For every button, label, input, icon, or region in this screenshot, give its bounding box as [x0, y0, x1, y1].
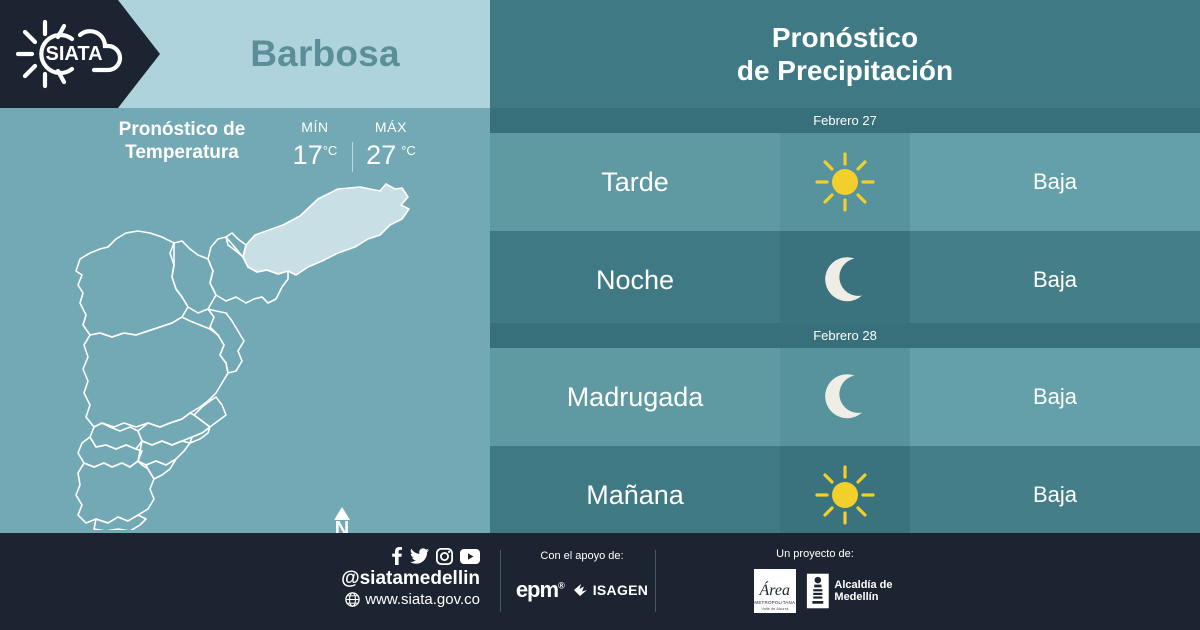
website-line[interactable]: www.siata.gov.co: [300, 590, 480, 609]
temperature-title-line2: Temperatura: [96, 141, 268, 164]
temperature-max: MÁX 27°C: [354, 118, 428, 170]
footer-divider: [655, 550, 656, 612]
temperature-max-value-wrap: 27°C: [354, 136, 428, 170]
forecast-probability: Baja: [910, 133, 1200, 231]
temperature-min-label: MÍN: [278, 118, 352, 136]
alcaldia-logo: Alcaldía de Medellín: [806, 571, 930, 611]
temperature-min-value: 17: [293, 140, 323, 170]
date-band-feb28: Febrero 28: [490, 323, 1200, 348]
siata-logo-text: SIATA: [45, 43, 102, 65]
forecast-row[interactable]: Mañana Baja: [490, 446, 1200, 544]
forecast-period-label: Madrugada: [490, 348, 780, 446]
social-handle[interactable]: @siatamedellin: [300, 567, 480, 590]
temperature-max-value: 27: [366, 140, 396, 170]
project-block: Un proyecto de: Área METROPOLITANA Valle…: [700, 547, 930, 613]
footer: @siatamedellin www.siata.gov.co Con el a…: [0, 533, 1200, 630]
support-logos: epm® ISAGEN: [512, 577, 652, 603]
alcaldia-crest-icon: [806, 571, 830, 611]
map-svg: [50, 175, 450, 530]
alcaldia-text: Alcaldía de Medellín: [834, 579, 930, 603]
sun-icon: [780, 446, 910, 544]
precipitation-panel: Pronóstico de Precipitación Febrero 27 T…: [490, 0, 1200, 533]
instagram-icon[interactable]: [436, 548, 453, 565]
forecast-probability: Baja: [910, 231, 1200, 329]
precipitation-title-line2: de Precipitación: [737, 54, 953, 87]
sun-cloud-icon: SIATA: [14, 18, 134, 95]
moon-icon: [780, 231, 910, 329]
date-band-feb27: Febrero 27: [490, 108, 1200, 133]
temperature-title: Pronóstico de Temperatura: [96, 118, 268, 164]
support-caption: Con el apoyo de:: [512, 549, 652, 563]
forecast-probability: Baja: [910, 446, 1200, 544]
temperature-max-unit: °C: [401, 143, 416, 158]
precipitation-title: Pronóstico de Precipitación: [490, 0, 1200, 108]
area-metropolitana-logo: Área METROPOLITANA Valle de Aburrá: [754, 569, 796, 613]
project-logos: Área METROPOLITANA Valle de Aburrá: [700, 569, 930, 613]
area-script-text: Área: [760, 583, 791, 599]
forecast-row[interactable]: Madrugada Baja: [490, 348, 1200, 446]
sun-icon: [780, 133, 910, 231]
twitter-icon[interactable]: [410, 548, 429, 564]
facebook-icon[interactable]: [390, 547, 403, 565]
project-caption: Un proyecto de:: [700, 547, 930, 561]
infographic-root: SIATA Barbosa Pronóstico de Temperatura …: [0, 0, 1200, 630]
moon-icon: [780, 348, 910, 446]
city-title: Barbosa: [160, 0, 490, 108]
forecast-period-label: Noche: [490, 231, 780, 329]
social-icons: [300, 546, 480, 566]
forecast-row[interactable]: Tarde Baja: [490, 133, 1200, 231]
youtube-icon[interactable]: [460, 549, 480, 564]
footer-divider: [500, 550, 501, 612]
temperature-block: Pronóstico de Temperatura MÍN 17°C MÁX 2…: [0, 112, 490, 182]
area-line2: Valle de Aburrá: [761, 606, 788, 611]
website-text: www.siata.gov.co: [365, 590, 480, 609]
support-block: Con el apoyo de: epm® ISAGEN: [512, 549, 652, 603]
temperature-title-line1: Pronóstico de: [96, 118, 268, 141]
precipitation-title-line1: Pronóstico: [772, 21, 918, 54]
left-panel: SIATA Barbosa Pronóstico de Temperatura …: [0, 0, 490, 533]
temperature-divider: [352, 142, 353, 172]
isagen-logo: ISAGEN: [574, 582, 648, 598]
temperature-max-label: MÁX: [354, 118, 428, 136]
aburra-valley-map: N: [50, 175, 450, 530]
epm-logo: epm®: [516, 577, 564, 603]
forecast-probability: Baja: [910, 348, 1200, 446]
forecast-row[interactable]: Noche Baja: [490, 231, 1200, 329]
temperature-min-unit: °C: [323, 143, 338, 158]
map-municipality-barbosa: [243, 184, 409, 275]
forecast-period-label: Tarde: [490, 133, 780, 231]
isagen-mark-icon: [574, 583, 590, 597]
forecast-period-label: Mañana: [490, 446, 780, 544]
social-block: @siatamedellin www.siata.gov.co: [300, 546, 480, 609]
temperature-min-value-wrap: 17°C: [278, 136, 352, 170]
temperature-min: MÍN 17°C: [278, 118, 352, 170]
globe-icon: [345, 592, 360, 607]
isagen-text: ISAGEN: [593, 582, 648, 598]
